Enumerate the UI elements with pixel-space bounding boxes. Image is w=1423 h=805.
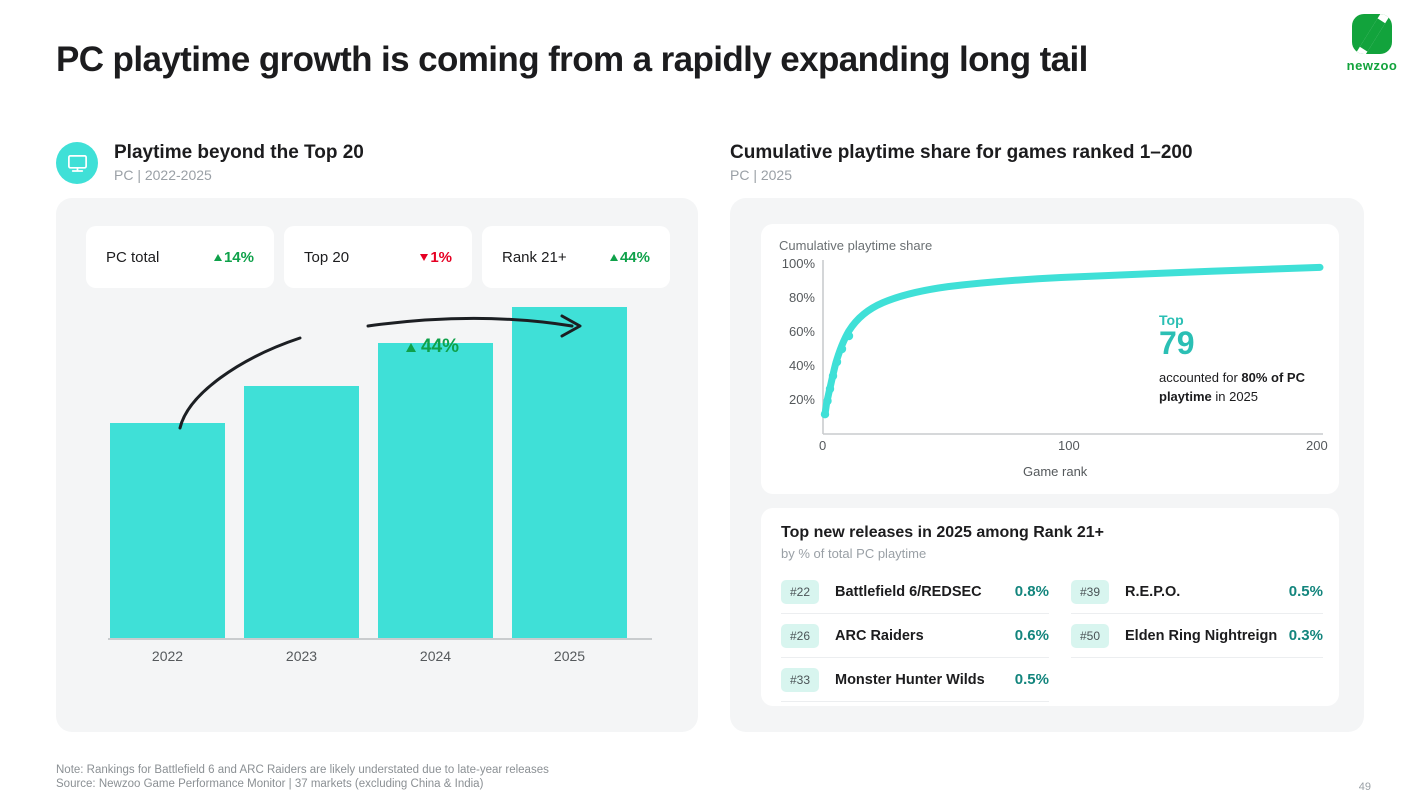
x-tick-200: 200 [1306, 438, 1328, 453]
release-percent: 0.5% [1015, 671, 1049, 688]
release-name: Battlefield 6/REDSEC [835, 584, 1015, 600]
kpi-label: PC total [106, 249, 159, 266]
left-section-subtitle: PC | 2022-2025 [114, 167, 676, 183]
arrow-up-icon [214, 254, 222, 261]
monitor-icon [56, 142, 98, 184]
release-name: ARC Raiders [835, 628, 1015, 644]
growth-callout: 44% [406, 336, 459, 358]
releases-column-2: #39 R.E.P.O. 0.5% #50 Elden Ring Nightre… [1071, 570, 1323, 658]
kpi-label: Top 20 [304, 249, 349, 266]
arrow-up-icon [610, 254, 618, 261]
annotation-text: accounted for 80% of PC playtime in 2025 [1159, 369, 1329, 407]
right-section-title: Cumulative playtime share for games rank… [730, 142, 1390, 164]
release-row[interactable]: #22 Battlefield 6/REDSEC 0.8% [781, 570, 1049, 614]
right-panel: Cumulative playtime share 100% 80% 60% 4… [730, 198, 1364, 732]
kpi-value: 14% [214, 249, 254, 266]
page-number: 49 [1359, 781, 1371, 793]
growth-arrow-icon [110, 298, 652, 458]
release-row[interactable]: #39 R.E.P.O. 0.5% [1071, 570, 1323, 614]
left-section-title: Playtime beyond the Top 20 [114, 142, 676, 164]
bar-label-2024: 2024 [378, 648, 493, 664]
kpi-value-text: 44% [620, 249, 650, 266]
left-section-header: Playtime beyond the Top 20 PC | 2022-202… [56, 142, 676, 188]
x-tick-100: 100 [1058, 438, 1080, 453]
line-chart-card: Cumulative playtime share 100% 80% 60% 4… [761, 224, 1339, 494]
kpi-value: 1% [420, 249, 452, 266]
annotation-number: 79 [1159, 326, 1329, 361]
right-section-subtitle: PC | 2025 [730, 167, 1390, 183]
release-row[interactable]: #33 Monster Hunter Wilds 0.5% [781, 658, 1049, 702]
release-rank-badge: #22 [781, 580, 819, 604]
page-title: PC playtime growth is coming from a rapi… [56, 40, 1088, 80]
release-name: Elden Ring Nightreign [1125, 628, 1289, 644]
kpi-value-text: 1% [430, 249, 452, 266]
release-row[interactable]: #50 Elden Ring Nightreign 0.3% [1071, 614, 1323, 658]
kpi-label: Rank 21+ [502, 249, 567, 266]
arrow-down-icon [420, 254, 428, 261]
release-percent: 0.3% [1289, 627, 1323, 644]
x-axis-label: Game rank [1023, 464, 1087, 479]
kpi-value-text: 14% [224, 249, 254, 266]
newzoo-logo-mark [1352, 14, 1392, 54]
kpi-card-top-20[interactable]: Top 20 1% [284, 226, 472, 288]
bar-label-2022: 2022 [110, 648, 225, 664]
release-rank-badge: #50 [1071, 624, 1109, 648]
kpi-card-pc-total[interactable]: PC total 14% [86, 226, 274, 288]
footer-source: Source: Newzoo Game Performance Monitor … [56, 778, 483, 790]
growth-callout-text: 44% [421, 336, 459, 358]
releases-card: Top new releases in 2025 among Rank 21+ … [761, 508, 1339, 706]
arrow-up-icon [406, 343, 416, 352]
releases-column-1: #22 Battlefield 6/REDSEC 0.8% #26 ARC Ra… [781, 570, 1049, 702]
bar-label-2023: 2023 [244, 648, 359, 664]
release-percent: 0.5% [1289, 583, 1323, 600]
release-percent: 0.8% [1015, 583, 1049, 600]
release-row[interactable]: #26 ARC Raiders 0.6% [781, 614, 1049, 658]
top-79-annotation: Top 79 accounted for 80% of PC playtime … [1159, 312, 1329, 407]
right-section-header: Cumulative playtime share for games rank… [730, 142, 1390, 183]
slide-root: PC playtime growth is coming from a rapi… [0, 0, 1423, 805]
kpi-value: 44% [610, 249, 650, 266]
release-rank-badge: #33 [781, 668, 819, 692]
release-name: Monster Hunter Wilds [835, 672, 1015, 688]
x-tick-0: 0 [819, 438, 826, 453]
releases-title: Top new releases in 2025 among Rank 21+ [781, 524, 1104, 542]
newzoo-logo-text: newzoo [1341, 58, 1403, 73]
release-name: R.E.P.O. [1125, 584, 1289, 600]
left-panel: PC total 14% Top 20 1% Rank 21+ 44% [56, 198, 698, 732]
footer-note: Note: Rankings for Battlefield 6 and ARC… [56, 764, 549, 776]
bar-label-2025: 2025 [512, 648, 627, 664]
release-rank-badge: #26 [781, 624, 819, 648]
bar-baseline [108, 638, 652, 640]
kpi-card-rank-21-plus[interactable]: Rank 21+ 44% [482, 226, 670, 288]
releases-subtitle: by % of total PC playtime [781, 546, 926, 561]
annotation-text-2: in 2025 [1212, 389, 1258, 404]
newzoo-logo: newzoo [1341, 14, 1403, 73]
release-rank-badge: #39 [1071, 580, 1109, 604]
annotation-text-1: accounted for [1159, 370, 1241, 385]
release-percent: 0.6% [1015, 627, 1049, 644]
